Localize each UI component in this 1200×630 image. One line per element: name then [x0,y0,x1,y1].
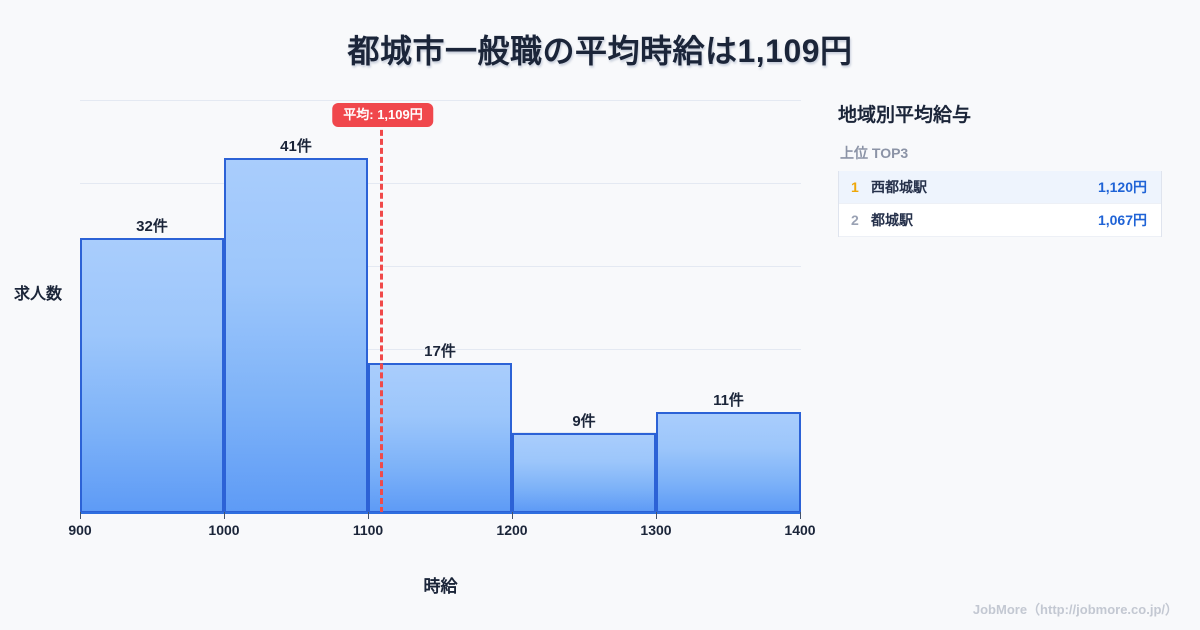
histogram-chart: 32件 41件 17件 9件 11件 平均: 1,109円 900 1000 1… [0,0,830,630]
bar-value-label-5: 11件 [656,389,801,410]
x-tick-label-1300: 1300 [640,522,671,538]
bar-value-label-2: 41件 [224,135,368,156]
footer-credit: JobMore（http://jobmore.co.jp/） [973,599,1178,618]
x-tick-label-1200: 1200 [496,522,527,538]
bar-1000-1100[interactable] [224,158,368,513]
average-badge: 平均: 1,109円 [332,103,433,127]
x-tick-label-1400: 1400 [784,522,815,538]
bar-value-label-4: 9件 [512,410,656,431]
x-tick [512,512,513,519]
rank-station-name: 都城駅 [871,210,1098,230]
x-tick-label-1000: 1000 [208,522,239,538]
bar-value-label-3: 17件 [368,340,512,361]
rank-row[interactable]: 1 西都城駅 1,120円 [839,171,1161,204]
rank-table: 1 西都城駅 1,120円 2 都城駅 1,067円 [838,171,1162,237]
rank-station-name: 西都城駅 [871,177,1098,197]
x-tick-label-900: 900 [68,522,91,538]
x-tick [224,512,225,519]
plot-area: 32件 41件 17件 9件 11件 平均: 1,109円 [80,95,801,513]
x-tick [656,512,657,519]
rank-row[interactable]: 2 都城駅 1,067円 [839,204,1161,237]
bars-layer [80,95,801,513]
rank-number: 2 [851,212,871,228]
bar-value-label-1: 32件 [80,215,224,236]
x-axis-line: 900 1000 1100 1200 1300 1400 [80,512,801,514]
rank-number: 1 [851,179,871,195]
bar-900-1000[interactable] [80,238,224,513]
x-tick [80,512,81,519]
rank-wage-value: 1,067円 [1098,210,1147,230]
bar-1100-1200[interactable] [368,363,512,513]
average-dashed-line [380,103,383,513]
y-axis-title: 求人数 [14,280,62,304]
x-axis-title: 時給 [80,572,801,597]
panel-heading: 地域別平均給与 [838,100,1168,127]
x-tick [368,512,369,519]
rank-wage-value: 1,120円 [1098,177,1147,197]
x-tick-label-1100: 1100 [353,522,383,538]
bar-1300-1400[interactable] [656,412,801,513]
regional-average-panel: 地域別平均給与 上位 TOP3 1 西都城駅 1,120円 2 都城駅 1,06… [838,100,1168,237]
x-tick [800,512,801,519]
bar-1200-1300[interactable] [512,433,656,513]
panel-subheading: 上位 TOP3 [840,143,1168,163]
